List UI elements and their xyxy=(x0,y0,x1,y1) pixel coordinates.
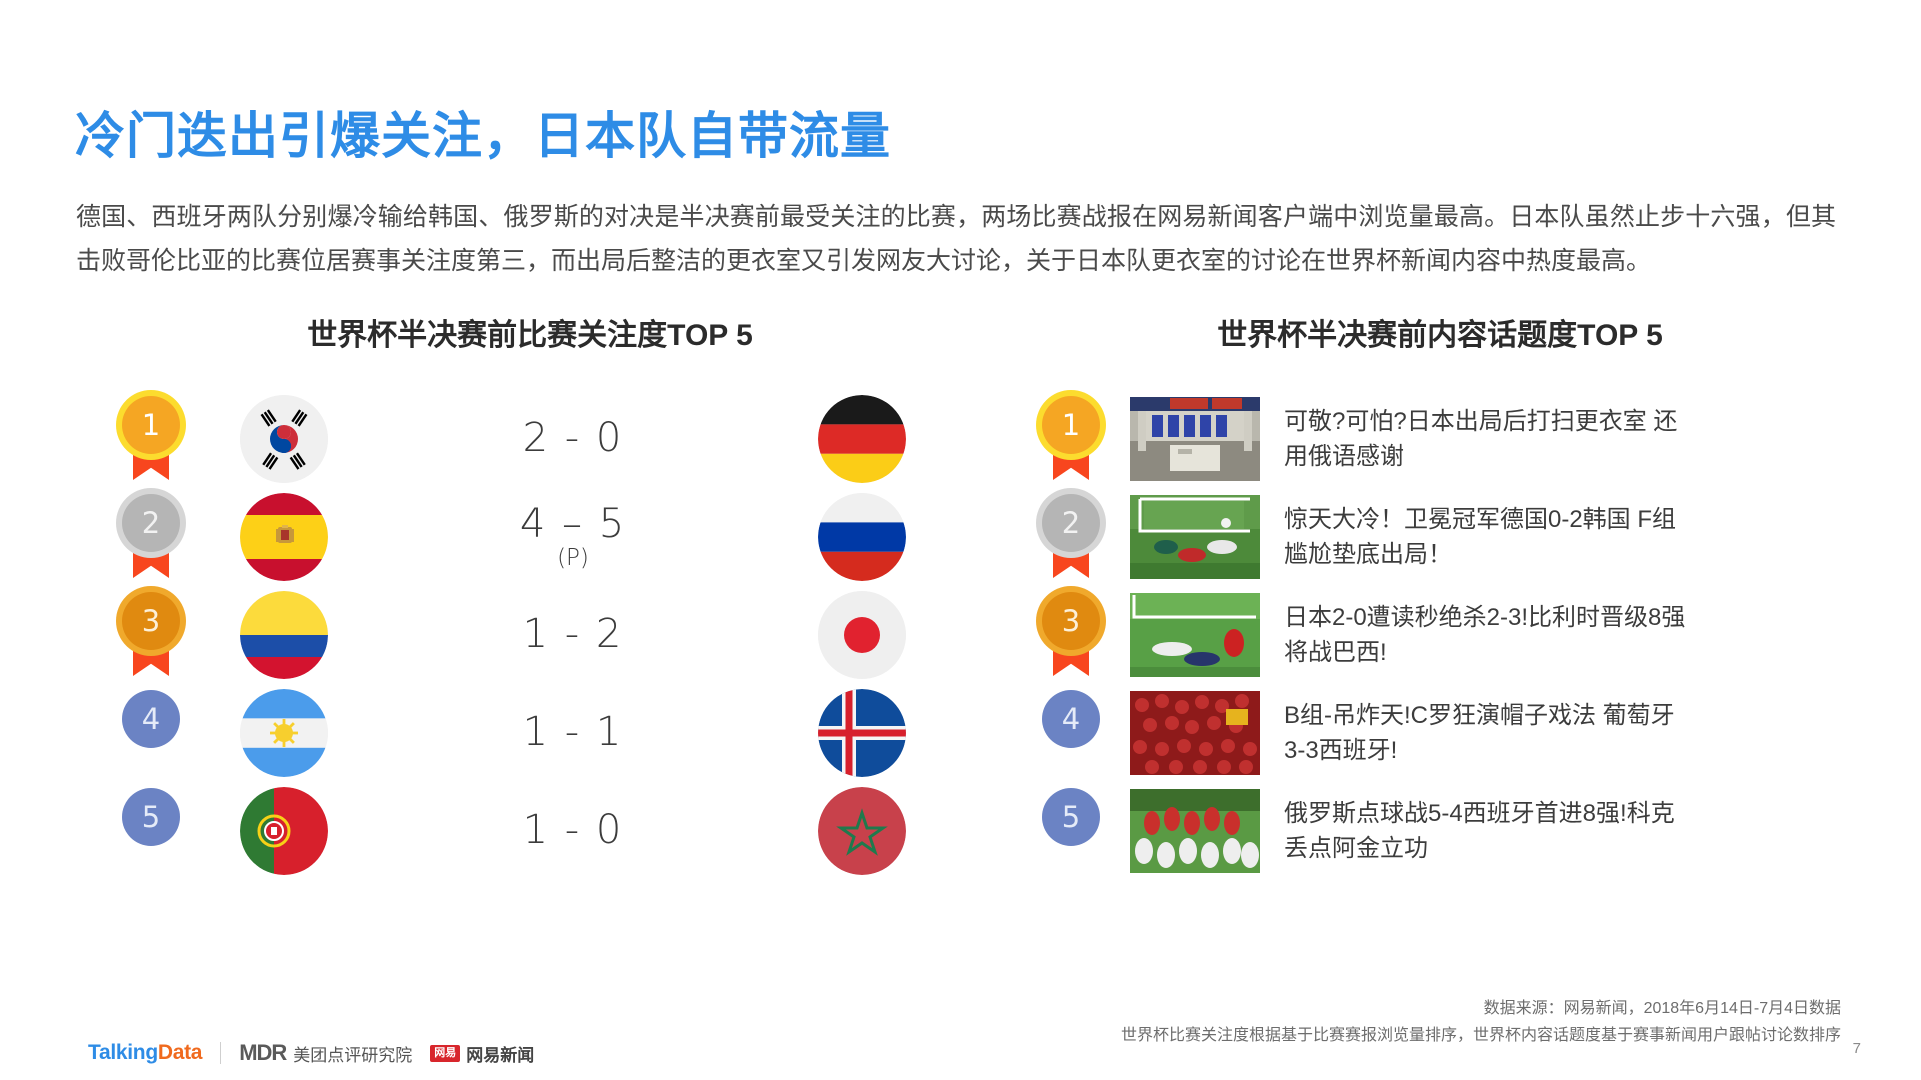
rank-number: 5 xyxy=(122,788,180,846)
news-title[interactable]: B组-吊炸天!C罗狂演帽子戏法 葡萄牙3-3西班牙! xyxy=(1284,698,1692,768)
flag-japan-icon xyxy=(818,591,906,679)
logo-mdr-text: 美团点评研究院 xyxy=(293,1041,412,1066)
match-score: 1 - 0 xyxy=(328,809,818,852)
match-row: 4 1 - 1 xyxy=(120,684,940,782)
slide-page: 冷门迭出引爆关注，日本队自带流量 德国、西班牙两队分别爆冷输给韩国、俄罗斯的对决… xyxy=(0,0,1921,1080)
news-thumbnail-crowd xyxy=(1130,691,1260,775)
rank-badge-1: 1 xyxy=(120,396,182,482)
logo-netease-news: 网易 网易新闻 xyxy=(430,1041,534,1066)
match-row: 3 1 - 2 xyxy=(120,586,940,684)
rank-badge-4: 4 xyxy=(1040,690,1102,776)
logo-talkingdata-part2: Data xyxy=(158,1041,202,1064)
flag-germany-icon xyxy=(818,395,906,483)
flag-russia-icon xyxy=(818,493,906,581)
logo-talkingdata: TalkingData xyxy=(88,1041,202,1065)
rank-badge-5: 5 xyxy=(120,788,182,874)
news-row[interactable]: 2 惊天大冷！卫冕冠军德国0-2韩国 F组尴尬垫底出局！ xyxy=(1040,488,1840,586)
logo-meituan-research: MDR 美团点评研究院 xyxy=(239,1040,412,1066)
match-score: 1 - 2 xyxy=(328,613,818,656)
penalty-note: (P) xyxy=(328,546,818,571)
topic-heat-panel: 世界杯半决赛前内容话题度TOP 5 1 xyxy=(1040,310,1840,880)
logo-netease-text: 网易新闻 xyxy=(466,1041,534,1066)
match-attention-panel: 世界杯半决赛前比赛关注度TOP 5 1 xyxy=(120,310,940,880)
logo-talkingdata-part1: Talking xyxy=(88,1041,158,1064)
netease-badge-icon: 网易 xyxy=(430,1045,460,1062)
rank-badge-2: 2 xyxy=(1040,494,1102,580)
news-title[interactable]: 惊天大冷！卫冕冠军德国0-2韩国 F组尴尬垫底出局！ xyxy=(1284,502,1692,572)
left-panel-title: 世界杯半决赛前比赛关注度TOP 5 xyxy=(120,310,940,354)
news-thumbnail-goal-line xyxy=(1130,495,1260,579)
match-row: 1 2 - 0 xyxy=(120,390,940,488)
news-title[interactable]: 可敬?可怕?日本出局后打扫更衣室 还用俄语感谢 xyxy=(1284,404,1692,474)
rank-number: 4 xyxy=(1042,690,1100,748)
news-row[interactable]: 1 可敬?可怕?日本出局后打扫更衣室 还用俄语感谢 xyxy=(1040,390,1840,488)
flag-iceland-icon xyxy=(818,689,906,777)
page-title: 冷门迭出引爆关注，日本队自带流量 xyxy=(75,96,891,168)
news-thumbnail-japan-belgium xyxy=(1130,593,1260,677)
match-row: 2 4 – 5 (P) xyxy=(120,488,940,586)
rank-badge-1: 1 xyxy=(1040,396,1102,482)
match-score: 1 - 1 xyxy=(328,711,818,754)
news-row[interactable]: 4 B组-吊炸天!C罗狂演帽子戏法 葡萄牙3-3西班牙 xyxy=(1040,684,1840,782)
match-row: 5 1 - 0 xyxy=(120,782,940,880)
rank-number: 5 xyxy=(1042,788,1100,846)
source-line-1: 数据来源：网易新闻，2018年6月14日-7月4日数据 xyxy=(1121,995,1841,1022)
rank-number: 2 xyxy=(1042,494,1100,552)
right-panel-title: 世界杯半决赛前内容话题度TOP 5 xyxy=(1040,310,1840,354)
news-thumbnail-locker-room xyxy=(1130,397,1260,481)
rank-badge-5: 5 xyxy=(1040,788,1102,874)
rank-number: 3 xyxy=(1042,592,1100,650)
news-row[interactable]: 5 俄罗斯点球战5-4西班牙首进8强!科克丢点阿金立功 xyxy=(1040,782,1840,880)
match-score: 2 - 0 xyxy=(328,417,818,460)
page-description: 德国、西班牙两队分别爆冷输给韩国、俄罗斯的对决是半决赛前最受关注的比赛，两场比赛… xyxy=(76,195,1836,283)
flag-spain-icon xyxy=(240,493,328,581)
rank-badge-3: 3 xyxy=(120,592,182,678)
rank-number: 4 xyxy=(122,690,180,748)
news-thumbnail-celebration xyxy=(1130,789,1260,873)
rank-number: 1 xyxy=(122,396,180,454)
rank-badge-2: 2 xyxy=(120,494,182,580)
logo-divider xyxy=(220,1042,221,1064)
rank-number: 3 xyxy=(122,592,180,650)
logo-mdr-mark: MDR xyxy=(239,1040,286,1066)
rank-badge-4: 4 xyxy=(120,690,182,776)
news-title[interactable]: 俄罗斯点球战5-4西班牙首进8强!科克丢点阿金立功 xyxy=(1284,796,1692,866)
match-score: 4 – 5 (P) xyxy=(328,503,818,571)
flag-morocco-icon xyxy=(818,787,906,875)
news-title[interactable]: 日本2-0遭读秒绝杀2-3!比利时晋级8强将战巴西! xyxy=(1284,600,1692,670)
page-number: 7 xyxy=(1853,1040,1861,1057)
flag-colombia-icon xyxy=(240,591,328,679)
flag-portugal-icon xyxy=(240,787,328,875)
news-row[interactable]: 3 日本2-0遭读秒绝杀2-3!比利时晋级8强将战巴西! xyxy=(1040,586,1840,684)
source-note: 数据来源：网易新闻，2018年6月14日-7月4日数据 世界杯比赛关注度根据基于… xyxy=(1121,995,1841,1049)
flag-argentina-icon xyxy=(240,689,328,777)
flag-south-korea-icon xyxy=(240,395,328,483)
footer-logos: TalkingData MDR 美团点评研究院 网易 网易新闻 xyxy=(88,1040,534,1066)
rank-badge-3: 3 xyxy=(1040,592,1102,678)
rank-number: 1 xyxy=(1042,396,1100,454)
rank-number: 2 xyxy=(122,494,180,552)
source-line-2: 世界杯比赛关注度根据基于比赛赛报浏览量排序，世界杯内容话题度基于赛事新闻用户跟帖… xyxy=(1121,1022,1841,1049)
